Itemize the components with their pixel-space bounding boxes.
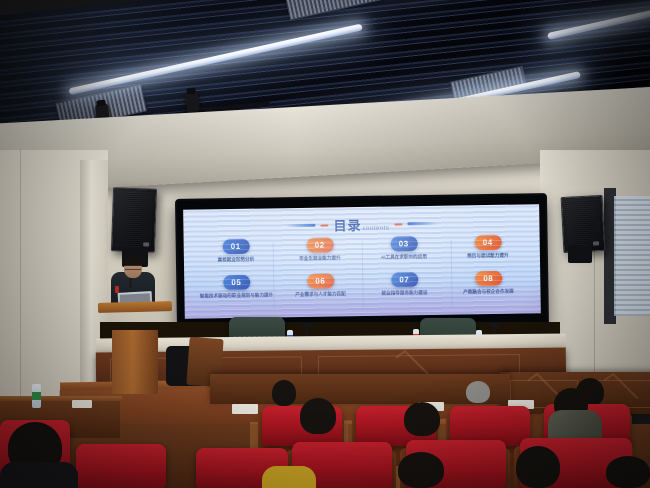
toc-item-06: 06 产业需求与人才能力匹配 xyxy=(278,273,362,299)
toc-number-07: 07 xyxy=(391,272,418,287)
toc-item-08: 08 产教融合与校企合作发展 xyxy=(446,270,530,296)
speaker-grille-left xyxy=(115,191,153,248)
spot-light-2 xyxy=(185,91,200,112)
speaker-bracket-right xyxy=(568,245,592,263)
title-tick-right xyxy=(394,223,402,225)
title-dash-left xyxy=(286,224,316,227)
toc-number-06: 06 xyxy=(307,273,334,288)
toc-number-01: 01 xyxy=(222,239,249,254)
slide-title-row: 目录 contents xyxy=(183,212,539,237)
speaker-badge-right xyxy=(593,241,599,245)
presenter-handheld-mic xyxy=(129,278,132,288)
foreground-water-bottle xyxy=(32,384,41,408)
screen-surface: 目录 contents 01 高校就业形势分析 02 毕业生就业能力提升 xyxy=(183,204,541,319)
toc-item-03: 03 AI工具在求职中的应用 xyxy=(362,236,446,262)
audience-bench-row1-center xyxy=(210,374,510,404)
toc-item-04: 04 简历与面试能力提升 xyxy=(446,234,530,260)
speaker-badge-left xyxy=(143,242,149,246)
attendee-foreground-clothing xyxy=(0,462,78,488)
slide-subtitle: contents xyxy=(363,226,390,232)
toc-label-08: 产教融合与校企合作发展 xyxy=(463,289,514,297)
toc-number-02: 02 xyxy=(306,237,333,252)
toc-number-08: 08 xyxy=(475,271,502,286)
attendee-yellow-clothing xyxy=(262,466,316,488)
bench-chevron-b xyxy=(603,373,638,405)
toc-label-04: 简历与面试能力提升 xyxy=(467,253,508,261)
led-screen: 目录 contents 01 高校就业形势分析 02 毕业生就业能力提升 xyxy=(177,195,547,331)
attendee-center-front xyxy=(272,380,296,406)
toc-item-07: 07 就业指导服务能力建设 xyxy=(362,272,446,298)
toc-label-03: AI工具在求职中的应用 xyxy=(381,254,427,262)
attendee-bottom-right xyxy=(516,446,560,488)
toc-item-05: 05 智能技术驱动的职业规划与能力提升 xyxy=(194,274,278,300)
attendee-center-third xyxy=(404,402,440,436)
title-tick-left xyxy=(321,224,329,226)
foreground-seat-center xyxy=(76,444,166,488)
presentation-slide: 目录 contents 01 高校就业形势分析 02 毕业生就业能力提升 xyxy=(183,204,541,319)
toc-number-03: 03 xyxy=(390,236,417,251)
toc-item-01: 01 高校就业形势分析 xyxy=(194,238,278,264)
foreground-desk-top xyxy=(0,396,122,401)
toc-label-07: 就业指导服务能力建设 xyxy=(381,290,427,298)
attendee-bottom-far-right xyxy=(606,456,650,488)
foreground-desk-paper xyxy=(72,400,92,408)
toc-item-02: 02 毕业生就业能力提升 xyxy=(278,237,362,263)
slide-title: 目录 xyxy=(333,215,361,234)
toc-label-02: 毕业生就业能力提升 xyxy=(299,255,340,263)
toc-grid: 01 高校就业形势分析 02 毕业生就业能力提升 03 AI工具在求职中的应用 … xyxy=(194,234,531,300)
window-blinds xyxy=(614,196,650,316)
toc-label-05: 智能技术驱动的职业规划与能力提升 xyxy=(200,292,274,300)
toc-label-06: 产业需求与人才能力匹配 xyxy=(295,291,346,299)
toc-number-04: 04 xyxy=(474,235,501,250)
lecture-hall-photo: 目录 contents 01 高校就业形势分析 02 毕业生就业能力提升 xyxy=(0,0,650,488)
desk-laptop-screen-1 xyxy=(232,404,258,414)
attendee-center-second xyxy=(300,398,336,434)
wall-speaker-left xyxy=(111,187,157,252)
toc-number-05: 05 xyxy=(223,275,250,290)
presenter-glasses xyxy=(125,265,141,270)
attendee-bottom-center xyxy=(398,452,444,488)
attendee-gray-hair xyxy=(466,381,490,403)
toc-label-01: 高校就业形势分析 xyxy=(218,257,255,264)
title-dash-right xyxy=(407,222,437,225)
